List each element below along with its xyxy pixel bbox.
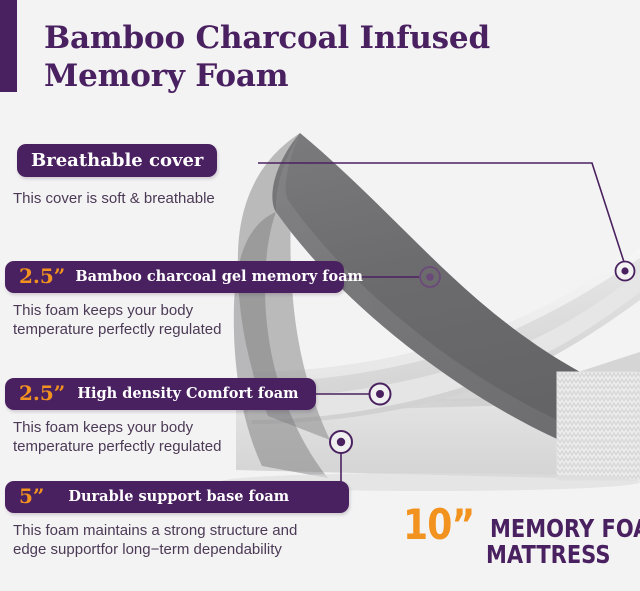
callout-dot-4 <box>330 431 352 453</box>
hero-word-2: MATTRESS <box>486 543 615 567</box>
layer-description-high-density-comfort-foam: This foam keeps your body temperature pe… <box>13 418 221 456</box>
hero-line-1: 10”MEMORY FOAM <box>403 505 639 545</box>
layer-badge-high-density-comfort-foam[interactable]: 2.5” High density Comfort foam <box>5 378 316 410</box>
layer-badge-thickness: 5” <box>19 486 44 506</box>
layer-badge-label: Breathable cover <box>31 152 203 170</box>
infographic-canvas: Bamboo Charcoal Infused Memory Foam Brea… <box>0 0 640 591</box>
layer-badge-label: Bamboo charcoal gel memory foam <box>75 270 363 285</box>
hero-headline: 10”MEMORY FOAM MATTRESS <box>403 505 639 567</box>
page-title: Bamboo Charcoal Infused Memory Foam <box>44 20 514 96</box>
hero-word-1: MEMORY FOAM <box>490 517 640 541</box>
layer-badge-breathable-cover[interactable]: Breathable cover <box>17 144 217 177</box>
layer-badge-thickness: 2.5” <box>19 266 65 286</box>
layer-badge-durable-support-base-foam[interactable]: 5” Durable support base foam <box>5 481 349 513</box>
hero-size: 10” <box>403 505 474 545</box>
callout-dot-1 <box>616 262 635 281</box>
callout-dot-3 <box>370 384 391 405</box>
layer-description-breathable-cover: This cover is soft & breathable <box>13 189 215 208</box>
page-title-line-2: Memory Foam <box>44 58 514 96</box>
layer-badge-label: Durable support base foam <box>68 490 289 505</box>
left-accent-bar <box>0 0 17 92</box>
layer-description-durable-support-base-foam: This foam maintains a strong structure a… <box>13 521 297 559</box>
layer-badge-label: High density Comfort foam <box>77 387 298 402</box>
fabric-side-panel <box>557 372 640 480</box>
layer-badge-bamboo-charcoal-gel-memory-foam[interactable]: 2.5” Bamboo charcoal gel memory foam <box>5 261 344 293</box>
page-title-line-1: Bamboo Charcoal Infused <box>44 20 514 58</box>
layer-description-bamboo-charcoal-gel-memory-foam: This foam keeps your body temperature pe… <box>13 301 221 339</box>
layer-badge-thickness: 2.5” <box>19 383 65 403</box>
